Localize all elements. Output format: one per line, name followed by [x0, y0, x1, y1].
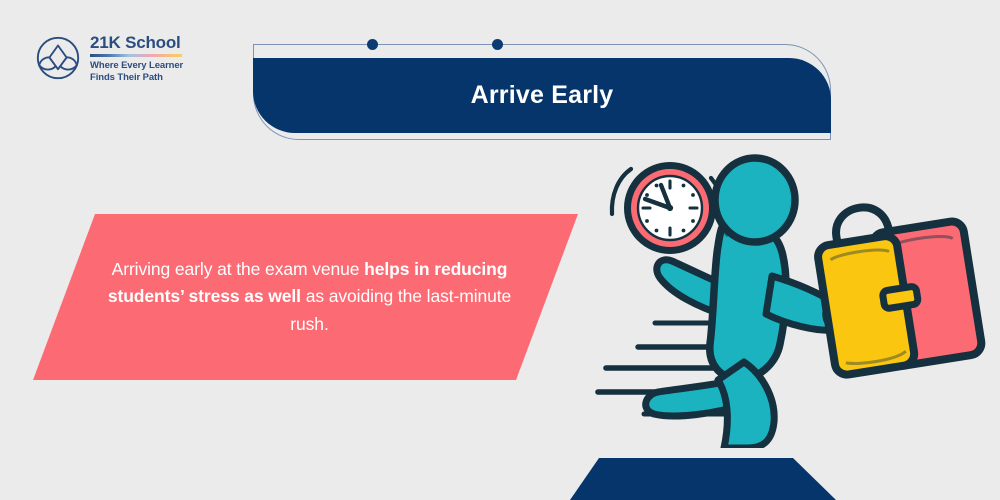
bottom-accent-shape: [570, 458, 1000, 500]
header-banner: Arrive Early: [253, 58, 831, 133]
header-track-dot-1: [367, 39, 378, 50]
callout-text: Arriving early at the exam venue helps i…: [96, 256, 516, 337]
brand-tagline: Where Every Learner Finds Their Path: [90, 60, 183, 83]
brand-tagline-line1: Where Every Learner: [90, 60, 183, 71]
lotus-circle-icon: [36, 36, 80, 80]
brand-gradient-rule: [90, 54, 182, 57]
illustration: [548, 148, 1000, 448]
brand-logo[interactable]: 21K School Where Every Learner Finds The…: [36, 33, 183, 83]
infographic-canvas: 21K School Where Every Learner Finds The…: [0, 0, 1000, 500]
brand-tagline-line2: Finds Their Path: [90, 72, 163, 83]
brand-name: 21K School: [90, 34, 183, 51]
briefcase-icon: [811, 192, 983, 376]
brand-text-block: 21K School Where Every Learner Finds The…: [90, 33, 183, 83]
callout-chevron: Arriving early at the exam venue helps i…: [33, 214, 578, 380]
page-title: Arrive Early: [471, 81, 614, 110]
header-track-dot-2: [492, 39, 503, 50]
alarm-clock-icon: [612, 162, 723, 254]
